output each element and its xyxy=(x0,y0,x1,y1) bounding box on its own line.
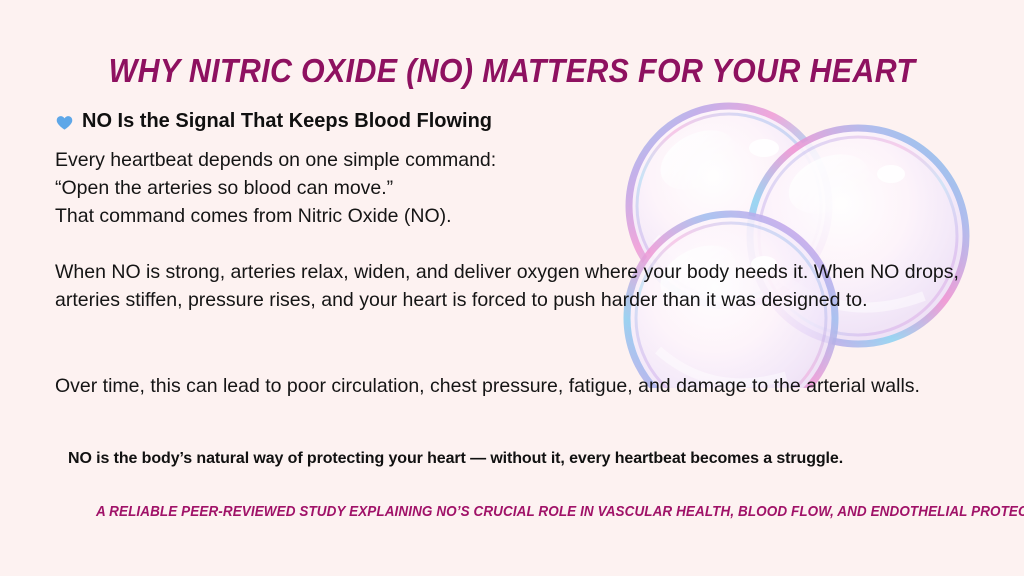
footer-source-text: A RELIABLE PEER-REVIEWED STUDY EXPLAININ… xyxy=(96,504,1024,520)
paragraph-intro: Every heartbeat depends on one simple co… xyxy=(55,146,615,230)
section-subheading: NO Is the Signal That Keeps Blood Flowin… xyxy=(55,110,492,133)
infographic-slide: WHY NITRIC OXIDE (NO) MATTERS FOR YOUR H… xyxy=(0,0,1024,576)
footer: A RELIABLE PEER-REVIEWED STUDY EXPLAININ… xyxy=(96,492,986,532)
subheading-text: NO Is the Signal That Keeps Blood Flowin… xyxy=(82,110,492,133)
page-title: WHY NITRIC OXIDE (NO) MATTERS FOR YOUR H… xyxy=(41,52,983,90)
paragraph-consequences: Over time, this can lead to poor circula… xyxy=(55,372,965,400)
soap-bubbles-illustration xyxy=(586,88,986,388)
summary-statement: NO is the body’s natural way of protecti… xyxy=(68,450,978,468)
paragraph-mechanism: When NO is strong, arteries relax, widen… xyxy=(55,258,965,314)
blue-heart-icon xyxy=(55,113,74,132)
